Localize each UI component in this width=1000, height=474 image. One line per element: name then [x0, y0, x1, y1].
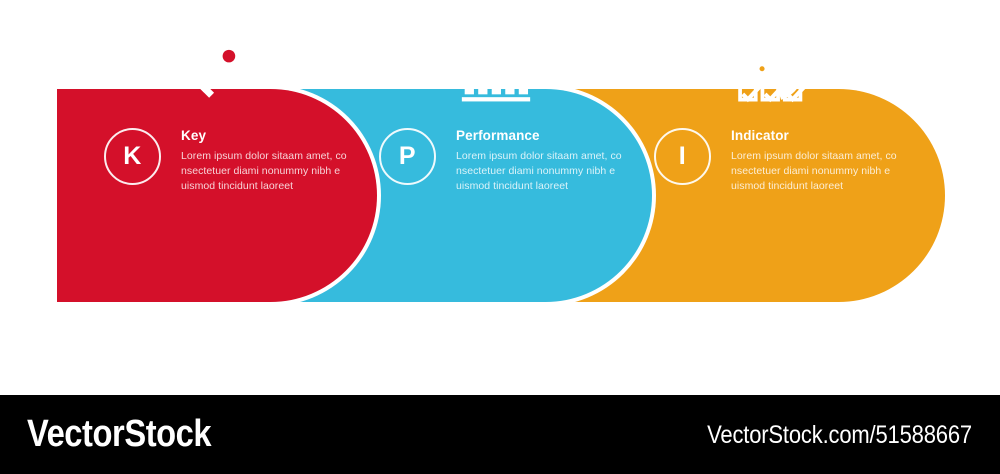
panel-key-content: K Key Lorem ipsum dolor sitaam amet, co …	[57, 0, 367, 213]
badge-key-letter: K	[123, 144, 142, 169]
badge-performance[interactable]: P	[379, 128, 436, 185]
badge-key[interactable]: K	[104, 128, 161, 185]
screenshot-stage: K Key Lorem ipsum dolor sitaam amet, co …	[0, 0, 1000, 474]
vectorstock-logo: VectorStock	[27, 415, 211, 453]
panel-indicator-text: Indicator Lorem ipsum dolor sitaam amet,…	[731, 128, 913, 194]
badge-indicator[interactable]: I	[654, 128, 711, 185]
panel-indicator-description: Lorem ipsum dolor sitaam amet, co nsecte…	[731, 149, 913, 194]
panel-performance-content: P Performance Lorem ipsum dolor sitaam a…	[332, 0, 642, 213]
key-icon	[175, 26, 267, 110]
infographic-canvas: K Key Lorem ipsum dolor sitaam amet, co …	[0, 0, 1000, 395]
gauge-checklist-icon	[725, 26, 817, 110]
vectorstock-url: VectorStock.com/51588667	[707, 423, 972, 448]
growth-chart-icon	[450, 26, 542, 110]
watermark-bar: VectorStock VectorStock.com/51588667	[0, 395, 1000, 474]
badge-performance-letter: P	[399, 144, 416, 169]
panel-indicator-content: I Indicator Lorem ipsum dolor sitaam ame…	[607, 0, 917, 213]
badge-indicator-letter: I	[679, 144, 686, 169]
panel-indicator-title: Indicator	[731, 128, 913, 144]
